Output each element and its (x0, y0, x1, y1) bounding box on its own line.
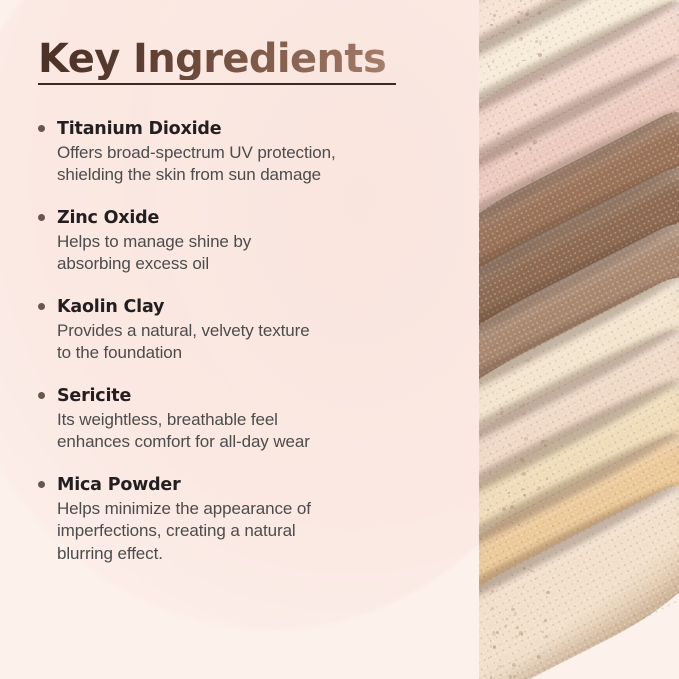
powder-speck (544, 619, 547, 622)
ingredient-description: Helps minimize the appearance of imperfe… (57, 498, 448, 566)
powder-speck (502, 507, 506, 511)
list-item: SericiteIts weightless, breathable feel … (38, 385, 448, 454)
powder-speck (510, 644, 511, 645)
powder-speck (544, 444, 546, 446)
bullet-icon (38, 125, 45, 132)
ingredient-name: Sericite (57, 385, 448, 408)
powder-speck (511, 608, 515, 612)
ingredient-description: Offers broad-spectrum UV protection, shi… (57, 142, 448, 187)
powder-speck (523, 341, 525, 343)
powder-speck (522, 460, 525, 463)
powder-speck (497, 181, 499, 183)
powder-speck (490, 24, 492, 26)
powder-speck (515, 635, 518, 638)
title-underline (38, 83, 396, 85)
powder-speck (513, 269, 515, 271)
powder-speck (545, 452, 547, 454)
powder-speck (522, 60, 523, 61)
powder-speck (490, 645, 492, 647)
powder-speck (492, 226, 495, 229)
powder-speck (496, 11, 497, 12)
powder-speck (529, 147, 532, 150)
powder-speck (545, 635, 547, 637)
powder-speck (513, 500, 516, 503)
ingredients-infographic: Key Ingredients Titanium DioxideOffers b… (0, 0, 679, 679)
powder-speck (514, 522, 515, 523)
powder-speck (511, 146, 513, 148)
powder-speck (496, 245, 499, 248)
powder-speck (497, 132, 500, 135)
powder-speck (488, 214, 492, 218)
powder-swatch-image (479, 0, 679, 679)
page-title-block: Key Ingredients (38, 38, 396, 85)
powder-speck (513, 613, 516, 616)
powder-speck (523, 48, 524, 49)
powder-speck (491, 590, 495, 594)
powder-speck (525, 13, 528, 16)
powder-speck (515, 152, 518, 155)
powder-speck (544, 207, 545, 208)
page-title: Key Ingredients (38, 38, 396, 80)
powder-speck (526, 251, 528, 253)
powder-speck (504, 219, 508, 223)
powder-speck (508, 229, 512, 233)
powder-speck (519, 405, 520, 406)
powder-speck (518, 346, 522, 350)
powder-speck (520, 11, 523, 14)
text-column: Key Ingredients Titanium DioxideOffers b… (0, 0, 470, 679)
powder-speck (530, 570, 532, 572)
bullet-icon (38, 214, 45, 221)
powder-speck (503, 32, 505, 34)
powder-speck (542, 117, 544, 119)
powder-speck (541, 440, 544, 443)
ingredient-description: Provides a natural, velvety texture to t… (57, 320, 448, 365)
ingredient-list: Titanium DioxideOffers broad-spectrum UV… (38, 118, 448, 565)
powder-speck (537, 486, 541, 490)
ingredient-description: Helps to manage shine by absorbing exces… (57, 231, 448, 276)
powder-speck (533, 347, 536, 350)
powder-speck (522, 472, 526, 476)
powder-speck (498, 583, 501, 586)
powder-speck (536, 553, 539, 556)
ingredient-description: Its weightless, breathable feel enhances… (57, 409, 448, 454)
powder-speck (504, 625, 507, 628)
powder-speck (519, 631, 522, 634)
powder-speck (500, 407, 503, 410)
powder-speck (522, 413, 524, 415)
list-item: Kaolin ClayProvides a natural, velvety t… (38, 296, 448, 365)
powder-speck (506, 150, 507, 151)
list-item: Zinc OxideHelps to manage shine by absor… (38, 207, 448, 276)
powder-speck (500, 411, 503, 414)
powder-speck (516, 64, 519, 67)
powder-speck (538, 538, 540, 540)
powder-speck (545, 36, 548, 39)
powder-speck (534, 276, 537, 279)
powder-speck (491, 36, 493, 38)
powder-speck (519, 27, 521, 29)
ingredient-name: Titanium Dioxide (57, 118, 448, 141)
powder-speck (540, 464, 542, 466)
powder-speck (487, 509, 489, 511)
powder-speck (529, 259, 531, 261)
list-item: Titanium DioxideOffers broad-spectrum UV… (38, 118, 448, 187)
powder-speck (531, 345, 533, 347)
powder-speck (522, 361, 524, 363)
powder-speck (508, 492, 510, 494)
powder-speck (523, 567, 526, 570)
list-item: Mica PowderHelps minimize the appearance… (38, 474, 448, 566)
powder-speck (503, 614, 504, 615)
powder-speck (522, 586, 524, 588)
powder-speck (491, 18, 492, 19)
powder-speck (524, 437, 527, 440)
powder-speck (538, 53, 542, 57)
ingredient-name: Zinc Oxide (57, 207, 448, 230)
powder-speck (503, 248, 507, 252)
powder-speck (544, 78, 546, 80)
powder-speck (522, 488, 524, 490)
bullet-icon (38, 392, 45, 399)
bullet-icon (38, 303, 45, 310)
powder-speck (519, 37, 523, 41)
powder-speck (529, 335, 531, 337)
ingredient-name: Mica Powder (57, 474, 448, 497)
powder-speck (536, 330, 538, 332)
powder-speck (518, 524, 520, 526)
powder-speck (498, 89, 499, 90)
powder-speck (539, 40, 542, 43)
powder-speck (537, 655, 541, 659)
bullet-icon (38, 481, 45, 488)
powder-swatch-bands (479, 0, 679, 679)
powder-speck (488, 657, 490, 659)
powder-speck (509, 444, 512, 447)
powder-speck (506, 618, 508, 620)
powder-speck (492, 61, 493, 62)
powder-speck (491, 360, 494, 363)
powder-speck (494, 183, 496, 185)
powder-speck (489, 638, 490, 639)
ingredient-name: Kaolin Clay (57, 296, 448, 319)
powder-speck (533, 140, 537, 144)
